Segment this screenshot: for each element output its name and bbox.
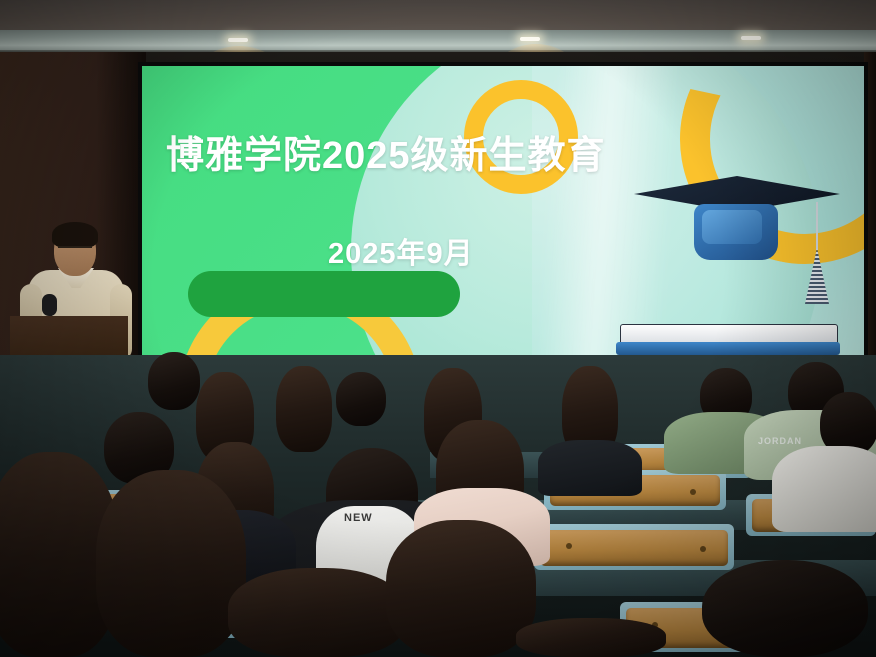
slide-title: 博雅学院2025级新生教育 bbox=[166, 124, 726, 179]
tassel-line bbox=[816, 202, 818, 250]
lecture-hall-photo: 博雅学院2025级新生教育 2025年9月 bbox=[0, 0, 876, 657]
downlight-icon bbox=[520, 37, 540, 41]
glasses-icon bbox=[58, 246, 92, 256]
ceiling bbox=[0, 0, 876, 34]
shirt-text-jordan: JORDAN bbox=[758, 436, 802, 446]
downlight-icon bbox=[741, 36, 761, 40]
slide-date: 2025年9月 bbox=[328, 230, 474, 272]
seat-screw bbox=[690, 489, 696, 495]
shirt-text-new: NEW bbox=[344, 512, 373, 524]
seat-screw bbox=[700, 546, 706, 552]
slide-green-pill bbox=[188, 271, 460, 317]
seat-screw bbox=[566, 543, 572, 549]
tassel-icon bbox=[805, 248, 829, 304]
graduation-cap-highlight bbox=[702, 210, 762, 244]
downlight-icon bbox=[228, 38, 248, 42]
presenter-hair bbox=[52, 222, 98, 248]
microphone-icon bbox=[42, 294, 57, 316]
ceiling-soffit bbox=[0, 30, 876, 52]
